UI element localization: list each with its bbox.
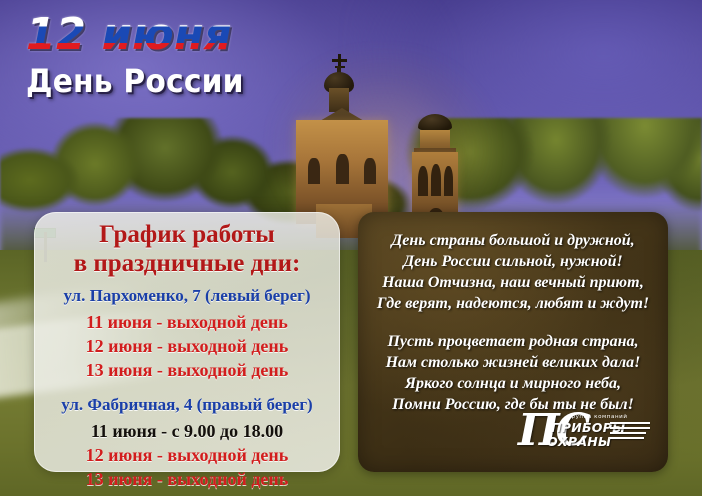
poem-line: День страны большой и дружной, [366, 230, 660, 251]
poem-line: Пусть процветает родная страна, [366, 331, 660, 352]
bell-tower-arch-right [444, 166, 453, 196]
logo-stripes [610, 422, 652, 450]
poem-line: Яркого солнца и мирного неба, [366, 373, 660, 394]
headline: 12 июня День России [26, 10, 336, 100]
schedule-heading-line2: в праздничные дни: [44, 249, 330, 278]
schedule-day-row: 11 июня - с 9.00 до 18.00 [44, 419, 330, 443]
holiday-poster: 12 июня День России График работы в праз… [0, 0, 702, 496]
schedule-day-row: 11 июня - выходной день [44, 310, 330, 334]
schedule-days-1: 11 июня - выходной день 12 июня - выходн… [44, 310, 330, 382]
poem-stanza-2: Пусть процветает родная страна, Нам стол… [366, 331, 660, 415]
bell-tower-cupola [418, 114, 452, 131]
headline-date: 12 июня [26, 10, 327, 60]
schedule-day-row: 13 июня - выходной день [44, 467, 330, 491]
bell-tower-arch-center [431, 164, 441, 196]
poem-panel: День страны большой и дружной, День Росс… [358, 212, 668, 472]
poem-line: День России сильной, нужной! [366, 251, 660, 272]
poem-line: Наша Отчизна, наш вечный приют, [366, 272, 660, 293]
church-window-right [364, 158, 376, 184]
logo-word-ohrany: ОХРАНЫ [547, 435, 611, 449]
bell-tower-lantern [420, 130, 450, 150]
church-window-center [336, 154, 349, 184]
schedule-day-row: 12 июня - выходной день [44, 334, 330, 358]
company-logo: ПС группа компаний ПРИБОРЫ ОХРАНЫ [518, 410, 652, 462]
schedule-address-2: ул. Фабричная, 4 (правый берег) [44, 394, 330, 416]
church-window-left [308, 158, 320, 184]
schedule-days-2: 11 июня - с 9.00 до 18.00 12 июня - выхо… [44, 419, 330, 491]
poem-stanza-1: День страны большой и дружной, День Росс… [366, 230, 660, 314]
bell-tower-arch-left [418, 166, 428, 196]
poem-line: Нам столько жизней великих дала! [366, 352, 660, 373]
poem-line: Где верят, надеются, любят и ждут! [366, 293, 660, 314]
schedule-heading-line1: График работы [44, 220, 330, 249]
schedule-panel: График работы в праздничные дни: ул. Пар… [34, 212, 340, 472]
schedule-address-1: ул. Пархоменко, 7 (левый берег) [44, 285, 330, 307]
schedule-day-row: 13 июня - выходной день [44, 358, 330, 382]
headline-title: День России [26, 62, 314, 100]
schedule-day-row: 12 июня - выходной день [44, 443, 330, 467]
